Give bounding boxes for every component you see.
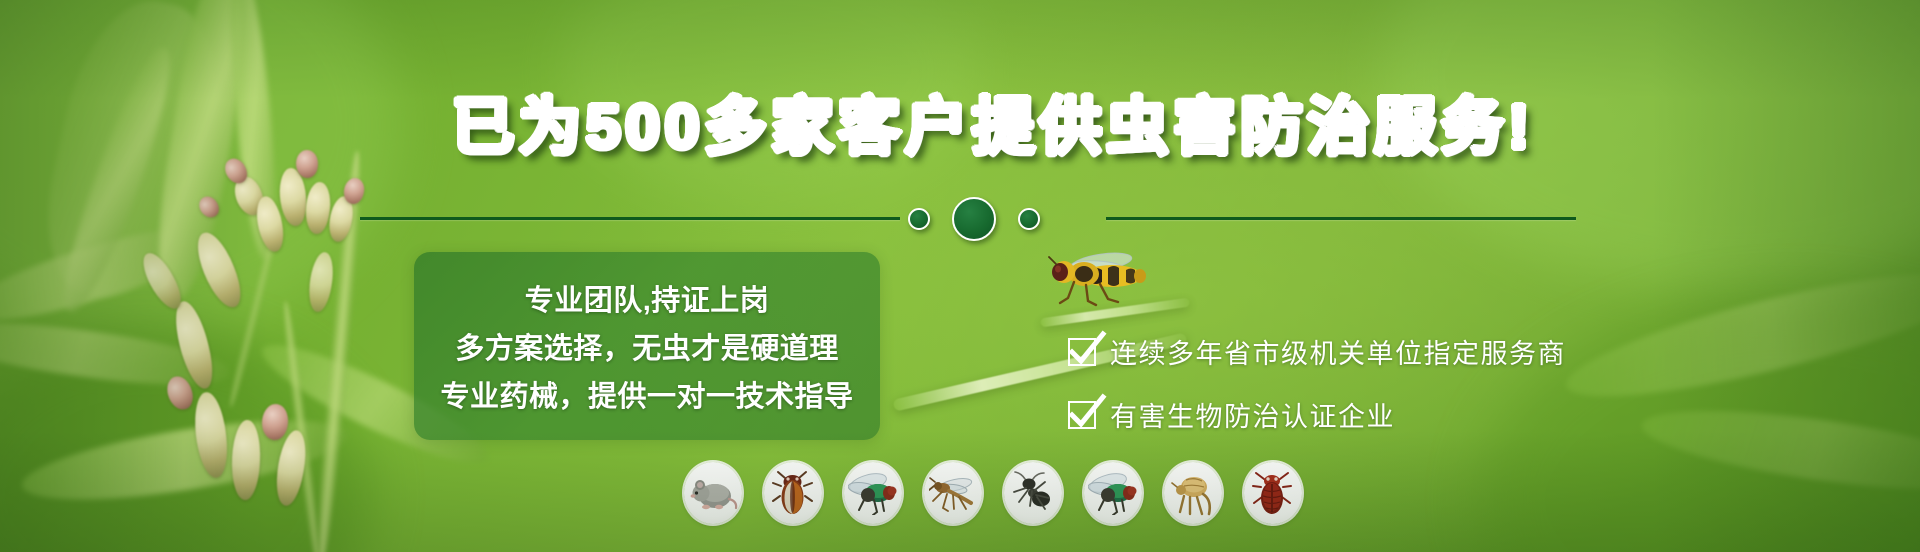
divider bbox=[0, 196, 1920, 240]
bedbug-icon[interactable] bbox=[1244, 462, 1302, 524]
promo-line-3: 专业药械，提供一对一技术指导 bbox=[440, 373, 853, 415]
promo-line-1: 专业团队,持证上岗 bbox=[525, 277, 770, 319]
decor-dot-large-center bbox=[952, 197, 996, 241]
checkbox-check-icon bbox=[1068, 338, 1096, 366]
headline-text-wrap: 已为500多家客户提供虫害防治服务! 已为500多家客户提供虫害防治服务! bbox=[452, 76, 1534, 166]
decor-dot-small-right bbox=[1018, 208, 1040, 230]
pest-control-hero-banner: 已为500多家客户提供虫害防治服务! 已为500多家客户提供虫害防治服务! 专业… bbox=[0, 0, 1920, 552]
credential-text: 有害生物防治认证企业 bbox=[1110, 395, 1395, 434]
divider-rule-right bbox=[1106, 217, 1576, 220]
list-item: 连续多年省市级机关单位指定服务商 bbox=[1068, 332, 1566, 371]
checkbox-check-icon bbox=[1068, 401, 1096, 429]
cockroach-icon[interactable] bbox=[764, 462, 822, 524]
headline-fill-layer: 已为500多家客户提供虫害防治服务! bbox=[452, 93, 1534, 162]
divider-rule-left bbox=[360, 217, 900, 220]
hoverfly-icon bbox=[1040, 248, 1160, 310]
credential-list: 连续多年省市级机关单位指定服务商 有害生物防治认证企业 bbox=[1068, 332, 1566, 434]
decor-dot-small-left bbox=[908, 208, 930, 230]
rodent-mouse-icon[interactable] bbox=[684, 462, 742, 524]
page-title: 已为500多家客户提供虫害防治服务! 已为500多家客户提供虫害防治服务! bbox=[0, 76, 1920, 166]
promo-panel: 专业团队,持证上岗 多方案选择，无虫才是硬道理 专业药械，提供一对一技术指导 bbox=[414, 252, 880, 440]
credential-text: 连续多年省市级机关单位指定服务商 bbox=[1110, 332, 1566, 371]
fly-green-icon-2[interactable] bbox=[1084, 462, 1142, 524]
mosquito-icon[interactable] bbox=[924, 462, 982, 524]
list-item: 有害生物防治认证企业 bbox=[1068, 395, 1566, 434]
promo-line-2: 多方案选择，无虫才是硬道理 bbox=[455, 325, 839, 367]
fly-green-icon[interactable] bbox=[844, 462, 902, 524]
flea-icon[interactable] bbox=[1164, 462, 1222, 524]
ant-icon[interactable] bbox=[1004, 462, 1062, 524]
pest-icon-strip bbox=[684, 462, 1302, 524]
